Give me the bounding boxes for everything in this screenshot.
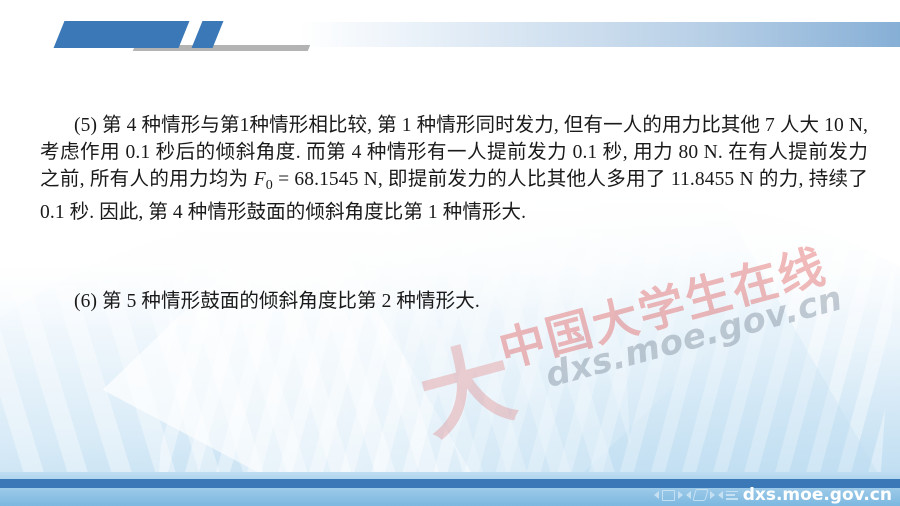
paragraph-item-5: (5) 第 4 种情形与第1种情形相比较, 第 1 种情形同时发力, 但有一人的… <box>40 112 868 227</box>
paragraph-text-6: 第 5 种情形鼓面的倾斜角度比第 2 种情形大. <box>102 291 480 312</box>
footer-icon-group <box>654 489 738 501</box>
box-icon <box>662 490 675 501</box>
paragraph-label-6: (6) <box>74 291 97 312</box>
formula-variable-name: F <box>254 169 266 190</box>
paragraph-label-5: (5) <box>74 115 97 136</box>
formula-variable-F: F0 <box>254 169 273 190</box>
triangle-left-icon <box>718 491 723 499</box>
triangle-right-icon <box>678 491 683 499</box>
triangle-left-icon <box>654 491 659 499</box>
slide-canvas: 大 中国大学生在线 dxs.moe.gov.cn (5) 第 4 种情形与第1种… <box>0 0 900 506</box>
formula-subscript: 0 <box>266 177 273 193</box>
list-lines-icon <box>726 491 738 500</box>
paragraph-item-6: (6) 第 5 种情形鼓面的倾斜角度比第 2 种情形大. <box>40 288 868 315</box>
triangle-right-icon <box>710 491 715 499</box>
slide-body: (5) 第 4 种情形与第1种情形相比较, 第 1 种情形同时发力, 但有一人的… <box>0 0 900 506</box>
footer-url: dxs.moe.gov.cn <box>743 485 892 505</box>
triangle-left-icon <box>686 491 691 499</box>
footer-right-group: dxs.moe.gov.cn <box>654 484 892 506</box>
rhombus-icon <box>692 489 708 501</box>
